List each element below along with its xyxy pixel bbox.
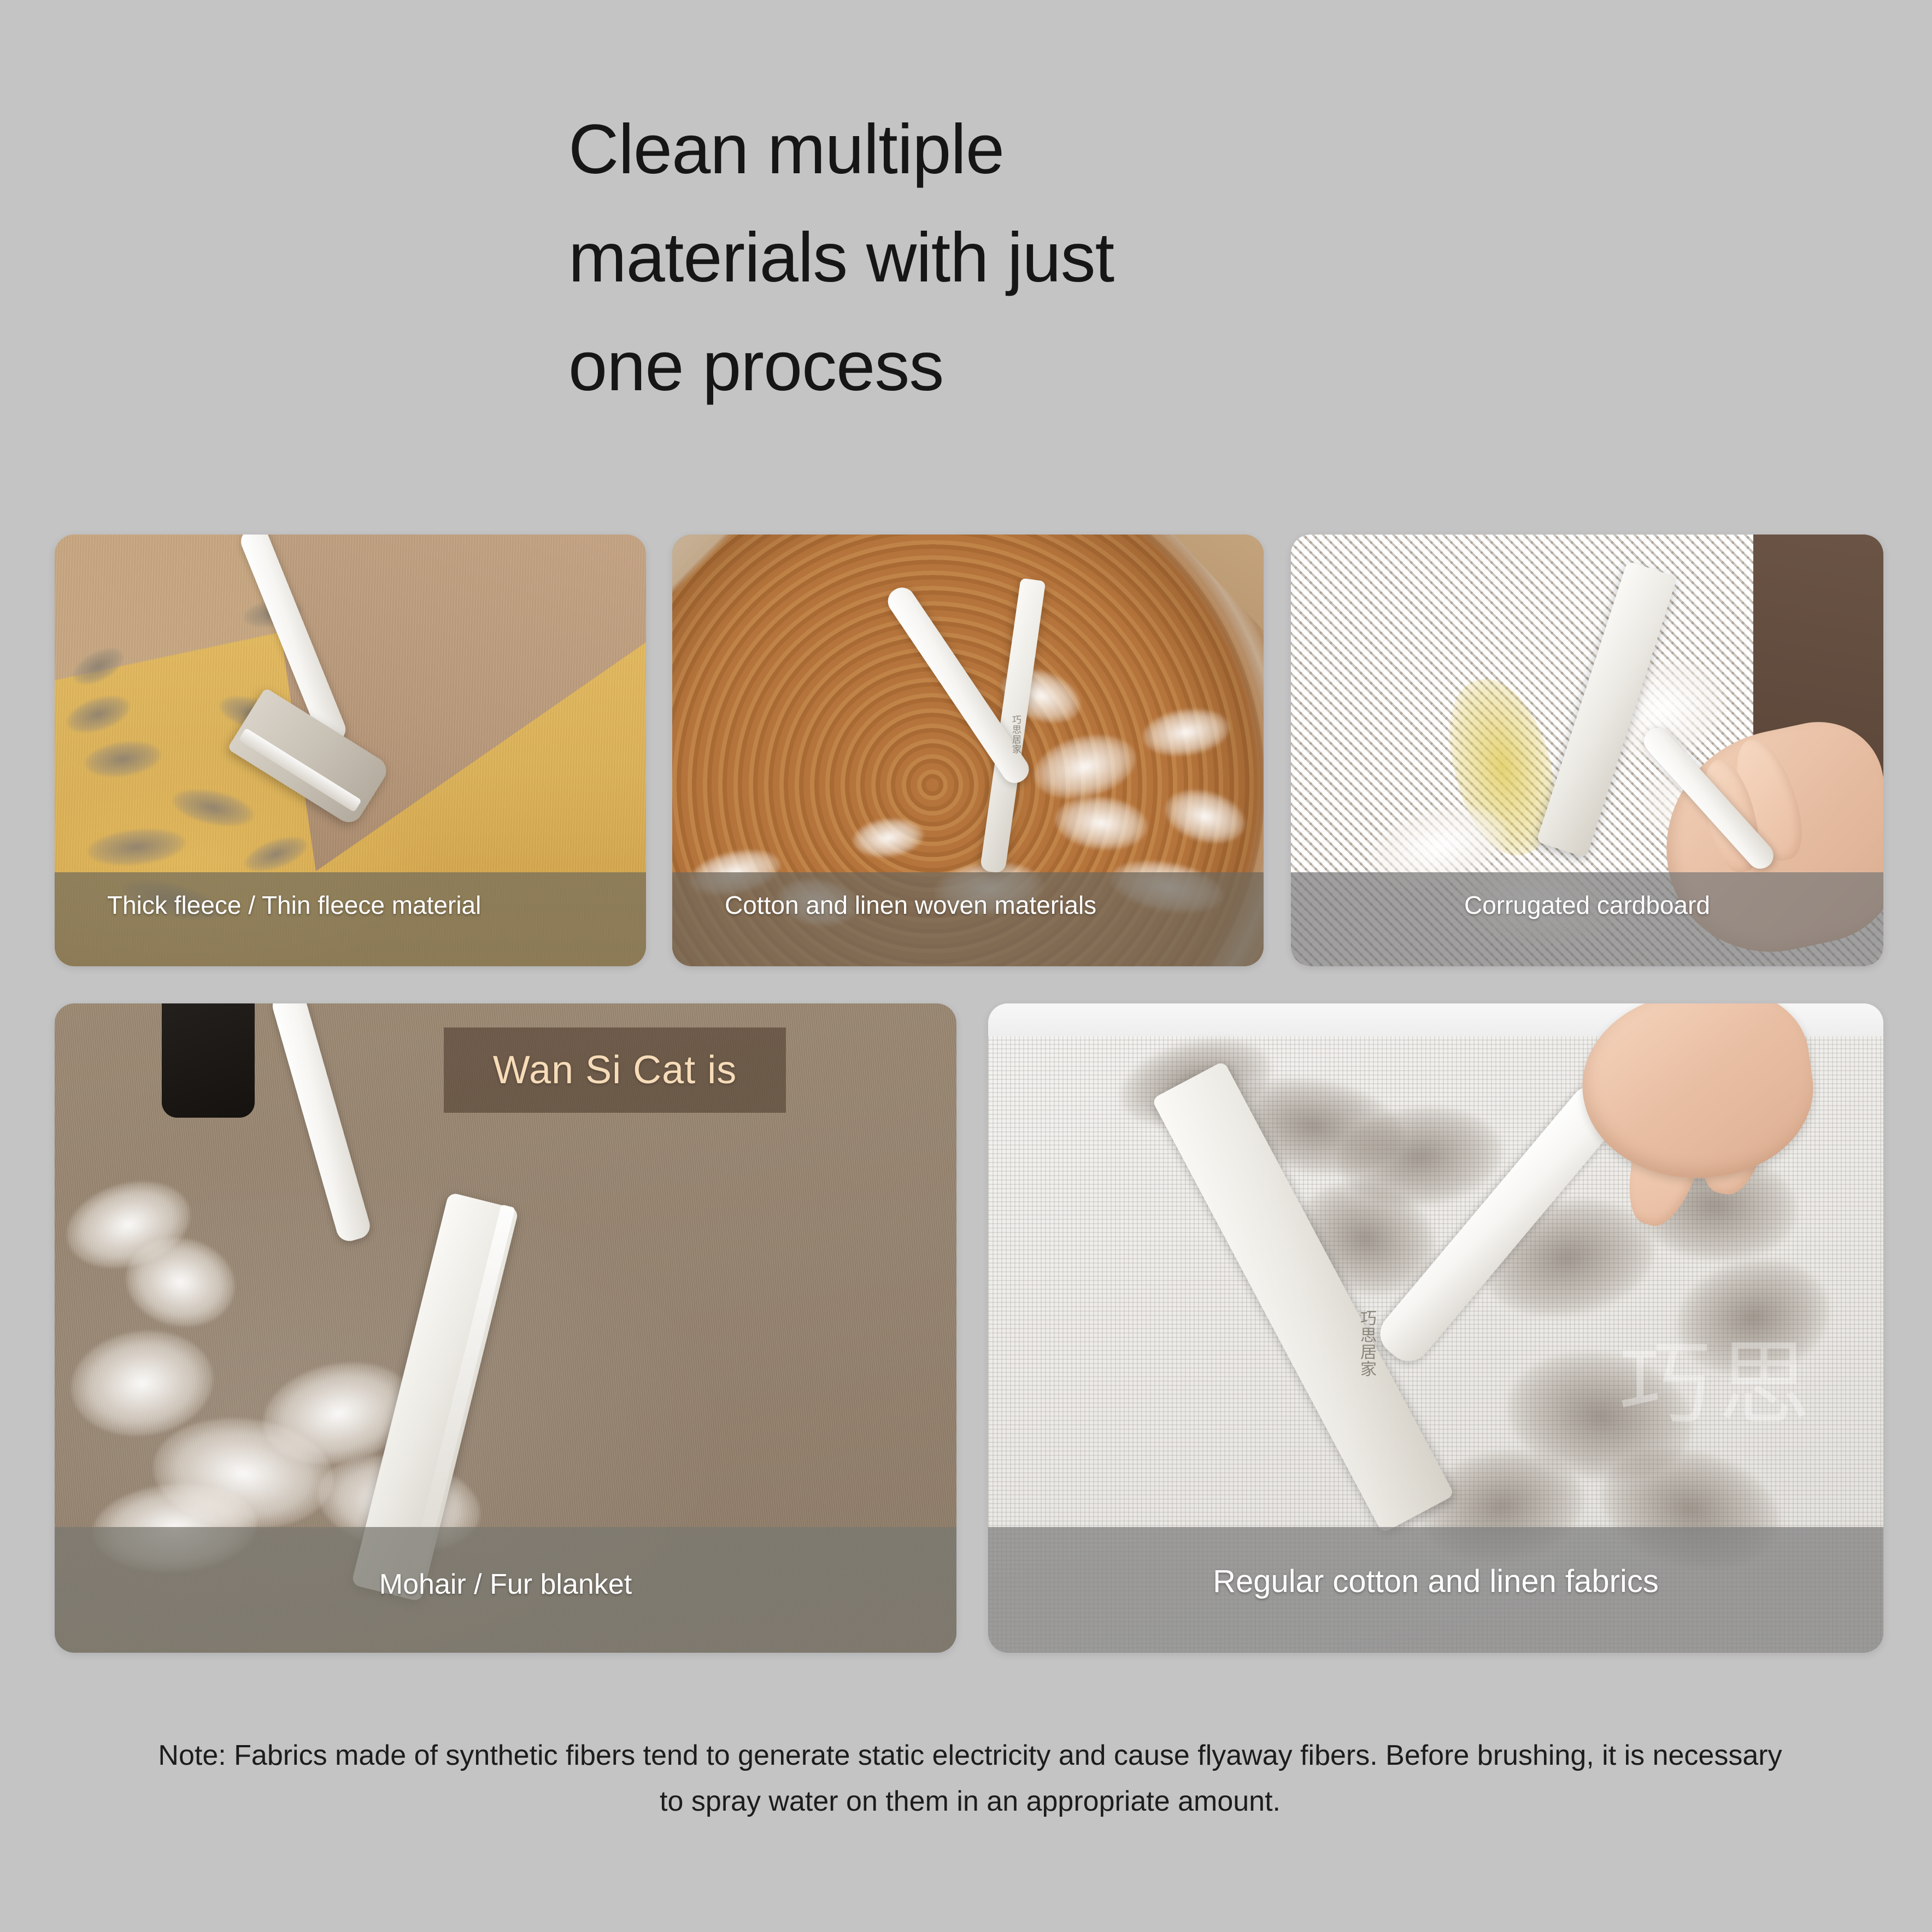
card-caption: Cotton and linen woven materials [672,872,1264,966]
headline-line-3: one process [568,313,1443,421]
feature-card-mohair[interactable]: Wan Si Cat is Mohair / Fur blanket [55,1003,956,1653]
tool-handle [269,1003,373,1244]
footer-note: Note: Fabrics made of synthetic fibers t… [104,1733,1836,1824]
card-caption: Mohair / Fur blanket [55,1527,956,1653]
tool-handle [1639,723,1778,874]
feature-card-cardboard[interactable]: Corrugated cardboard [1291,535,1883,966]
feature-card-woven[interactable]: 巧思居家 Cotton and linen woven materials [672,535,1264,966]
squeegee-tool: 巧思居家 [956,545,1262,906]
footer-note-line-1: Note: Fabrics made of synthetic fibers t… [104,1733,1836,1778]
squeegee-tool [219,535,481,890]
brand-watermark-text: Wan Si Cat is [493,1048,737,1093]
page-title: Clean multiple materials with just one p… [568,96,1443,421]
card-caption: Thick fleece / Thin fleece material [55,872,646,966]
brand-watermark: Wan Si Cat is [444,1027,786,1113]
feature-card-fleece[interactable]: Thick fleece / Thin fleece material [55,535,646,966]
squeegee-tool [1548,551,1832,901]
product-feature-page: Clean multiple materials with just one p… [0,0,1932,1932]
card-caption: Corrugated cardboard [1291,872,1883,966]
feature-card-linen[interactable]: 巧思居家 巧思 Regular cotton and linen fabrics [988,1003,1883,1653]
card-caption: Regular cotton and linen fabrics [988,1527,1883,1653]
headline-line-2: materials with just [568,204,1443,312]
tool-head [1536,561,1677,858]
tool-brand-label: 巧思居家 [1009,715,1023,754]
footer-note-line-2: to spray water on them in an appropriate… [104,1778,1836,1824]
headline-line-1: Clean multiple [568,96,1443,204]
tool-brand-label: 巧思居家 [1354,1309,1378,1377]
